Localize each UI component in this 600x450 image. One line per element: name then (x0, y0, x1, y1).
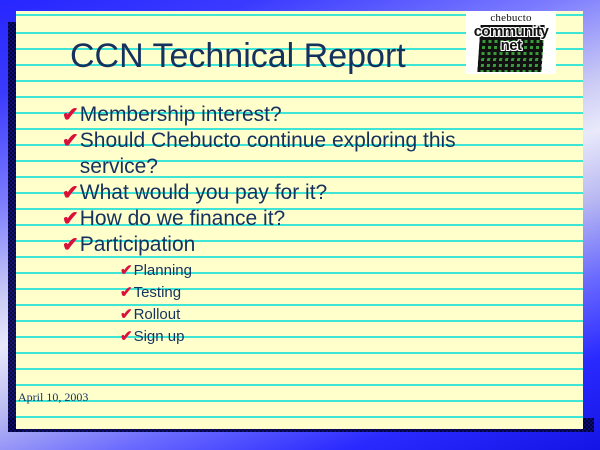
slide-canvas: chebucto community net CCN Technical Rep… (0, 0, 600, 450)
bullet-label: How do we finance it? (80, 206, 532, 232)
sub-bullet-label: Sign up (134, 326, 532, 348)
checkmark-icon: ✔ (62, 206, 79, 232)
bullet-label: Should Chebucto continue exploring this … (80, 128, 532, 180)
sub-bullet-label: Planning (134, 260, 532, 282)
sub-bullet-label: Rollout (134, 304, 532, 326)
checkmark-icon: ✔ (62, 128, 79, 154)
checkmark-icon: ✔ (120, 282, 133, 304)
checkmark-icon: ✔ (62, 232, 79, 258)
bullet-label: What would you pay for it? (80, 180, 532, 206)
checkmark-icon: ✔ (120, 304, 133, 326)
sub-bullet-item: ✔ Planning (120, 260, 532, 282)
bullet-label: Membership interest? (80, 102, 532, 128)
bullet-label: Participation (80, 232, 532, 258)
bullet-list: ✔ Membership interest? ✔ Should Chebucto… (62, 102, 532, 348)
sub-bullet-item: ✔ Rollout (120, 304, 532, 326)
chebucto-community-net-logo: chebucto community net (466, 11, 556, 74)
checkmark-icon: ✔ (120, 326, 133, 348)
bullet-item: ✔ Participation (62, 232, 532, 258)
logo-word-net: net (466, 39, 556, 53)
sub-bullet-list: ✔ Planning ✔ Testing ✔ Rollout ✔ Sign up (120, 260, 532, 348)
checkmark-icon: ✔ (62, 102, 79, 128)
checkmark-icon: ✔ (62, 180, 79, 206)
logo-wordmark: community net (466, 25, 556, 53)
bullet-item: ✔ How do we finance it? (62, 206, 532, 232)
sub-bullet-item: ✔ Testing (120, 282, 532, 304)
bullet-item: ✔ Should Chebucto continue exploring thi… (62, 128, 532, 180)
bullet-item: ✔ Membership interest? (62, 102, 532, 128)
bullet-item: ✔ What would you pay for it? (62, 180, 532, 206)
sub-bullet-label: Testing (134, 282, 532, 304)
slide-title: CCN Technical Report (70, 36, 406, 76)
sub-bullet-item: ✔ Sign up (120, 326, 532, 348)
slide-date: April 10, 2003 (18, 390, 88, 404)
checkmark-icon: ✔ (120, 260, 133, 282)
